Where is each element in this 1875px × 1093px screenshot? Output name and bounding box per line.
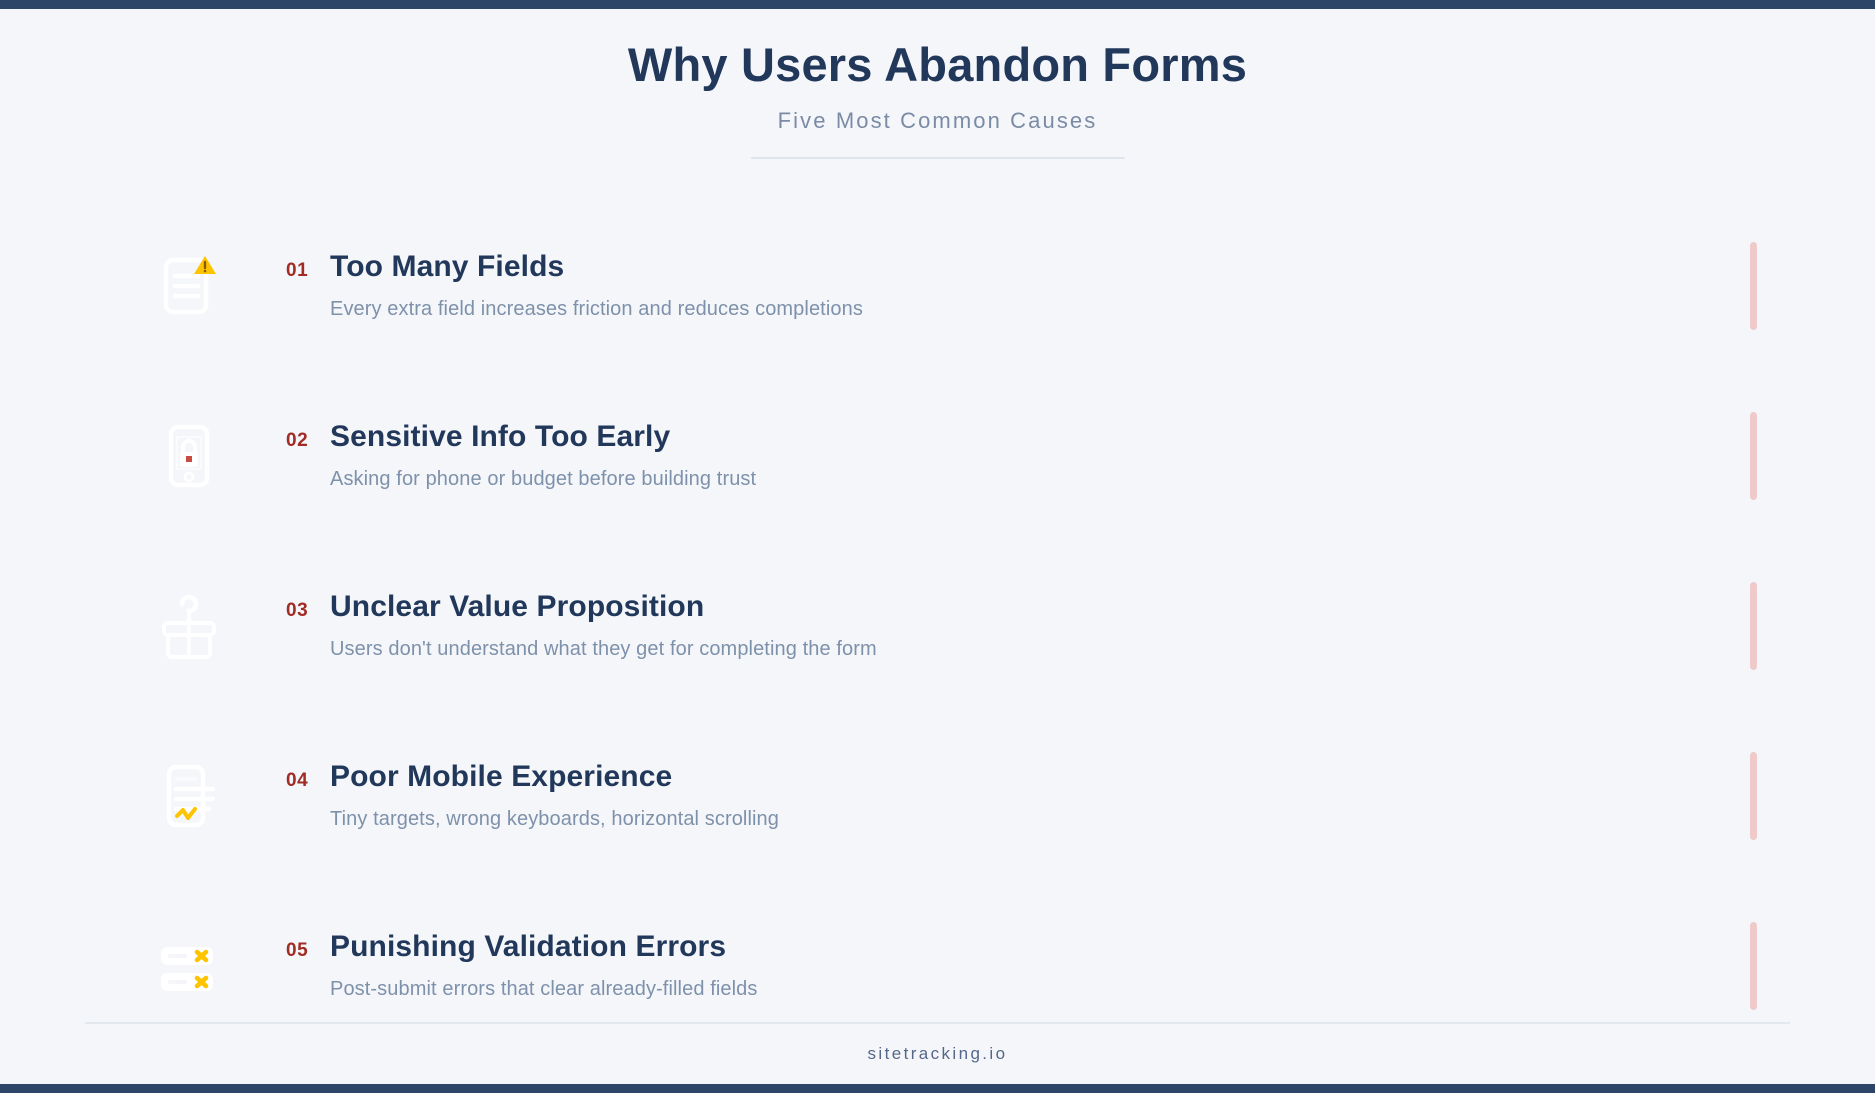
list-item-body: 01 Too Many Fields Every extra field inc… — [286, 249, 1755, 323]
list-item: 04 Poor Mobile Experience Tiny targets, … — [0, 711, 1875, 881]
list-item-accent-bar — [1750, 752, 1757, 840]
page-title: Why Users Abandon Forms — [0, 36, 1875, 95]
gift-question-icon — [150, 587, 228, 665]
page-subtitle: Five Most Common Causes — [0, 108, 1875, 134]
list-item-accent-bar — [1750, 922, 1757, 1010]
list-item-title: Too Many Fields — [330, 249, 1755, 286]
list-item-body: 02 Sensitive Info Too Early Asking for p… — [286, 419, 1755, 493]
list-item-text: Punishing Validation Errors Post-submit … — [330, 929, 1755, 1003]
list-item-text: Unclear Value Proposition Users don't un… — [330, 589, 1755, 663]
header-divider — [751, 157, 1125, 159]
list-item-body: 04 Poor Mobile Experience Tiny targets, … — [286, 759, 1755, 833]
list-item-accent-bar — [1750, 412, 1757, 500]
list-item-number: 01 — [286, 249, 330, 282]
list-item-accent-bar — [1750, 242, 1757, 330]
list-item-text: Sensitive Info Too Early Asking for phon… — [330, 419, 1755, 493]
list-item-title: Poor Mobile Experience — [330, 759, 1755, 796]
header: Why Users Abandon Forms Five Most Common… — [0, 36, 1875, 159]
list-item-number: 05 — [286, 929, 330, 962]
form-errors-icon — [150, 927, 228, 1005]
list-item-number: 03 — [286, 589, 330, 622]
list-item-description: Post-submit errors that clear already-fi… — [330, 976, 1755, 1003]
footer: sitetracking.io — [0, 1022, 1875, 1084]
list-item-description: Asking for phone or budget before buildi… — [330, 466, 1755, 493]
list-item-text: Too Many Fields Every extra field increa… — [330, 249, 1755, 323]
footer-brand: sitetracking.io — [0, 1024, 1875, 1064]
list-item-number: 02 — [286, 419, 330, 452]
list-item-title: Punishing Validation Errors — [330, 929, 1755, 966]
list-item: 02 Sensitive Info Too Early Asking for p… — [0, 371, 1875, 541]
list-item-title: Sensitive Info Too Early — [330, 419, 1755, 456]
infographic-page: Why Users Abandon Forms Five Most Common… — [0, 0, 1875, 1093]
list-item-description: Tiny targets, wrong keyboards, horizonta… — [330, 806, 1755, 833]
bottom-accent-bar — [0, 1084, 1875, 1093]
list-item-number: 04 — [286, 759, 330, 792]
document-warning-icon — [150, 247, 228, 325]
list-item-accent-bar — [1750, 582, 1757, 670]
list-item: 03 Unclear Value Proposition Users don't… — [0, 541, 1875, 711]
top-accent-bar — [0, 0, 1875, 9]
list-item: 01 Too Many Fields Every extra field inc… — [0, 201, 1875, 371]
mobile-overflow-icon — [150, 757, 228, 835]
list-item-body: 03 Unclear Value Proposition Users don't… — [286, 589, 1755, 663]
list-item-text: Poor Mobile Experience Tiny targets, wro… — [330, 759, 1755, 833]
causes-list: 01 Too Many Fields Every extra field inc… — [0, 201, 1875, 1093]
list-item-title: Unclear Value Proposition — [330, 589, 1755, 626]
list-item-description: Users don't understand what they get for… — [330, 636, 1755, 663]
list-item-body: 05 Punishing Validation Errors Post-subm… — [286, 929, 1755, 1003]
phone-lock-icon — [150, 417, 228, 495]
list-item-description: Every extra field increases friction and… — [330, 296, 1755, 323]
